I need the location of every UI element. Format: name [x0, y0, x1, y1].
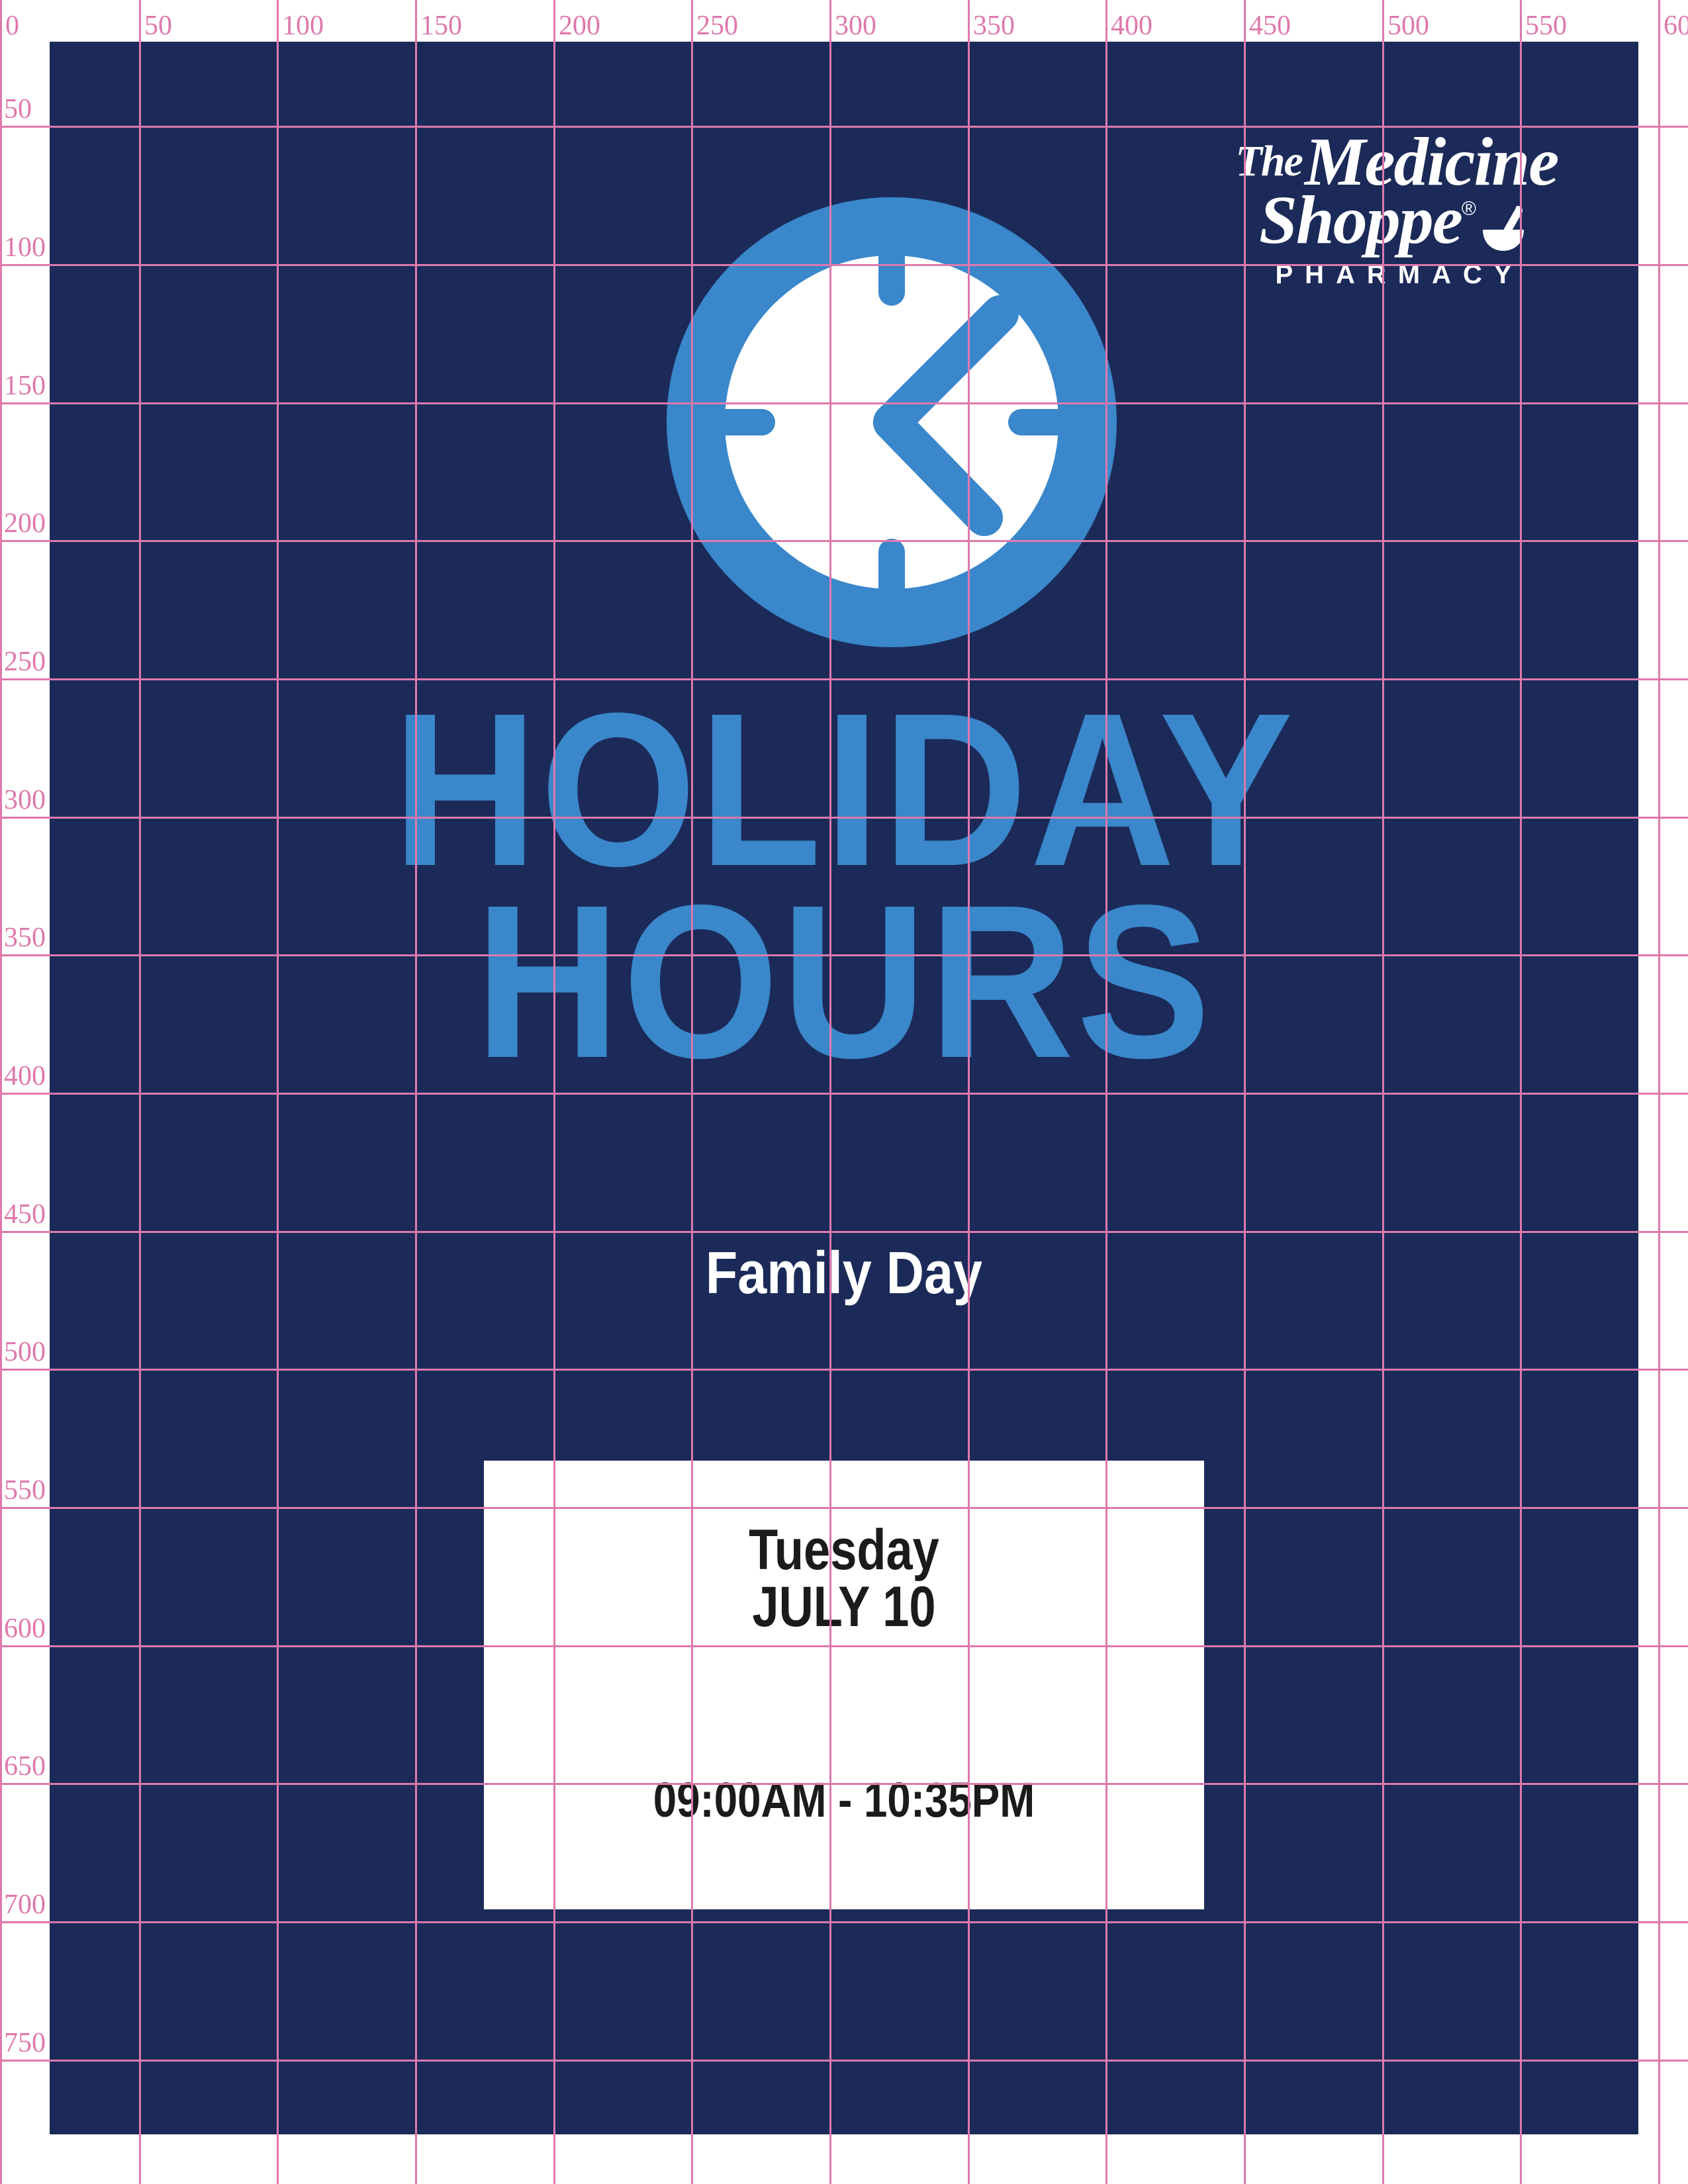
- grid-tick-label-x: 50: [144, 12, 172, 40]
- grid-tick-label-x: 600: [1664, 12, 1688, 40]
- gridline-vertical: [0, 0, 2, 2184]
- opening-hours-label: 09:00AM - 10:35PM: [534, 1772, 1154, 1828]
- grid-tick-label-x: 350: [973, 12, 1015, 40]
- grid-tick-label-y: 650: [4, 1752, 46, 1780]
- clock-icon: [667, 197, 1117, 647]
- hours-info-card: Tuesday JULY 10 09:00AM - 10:35PM: [484, 1461, 1204, 1909]
- logo-pharmacy-text: PHARMACY: [1175, 261, 1612, 288]
- grid-tick-label-x: 200: [559, 12, 600, 40]
- grid-tick-label-y: 350: [4, 924, 46, 952]
- headline-line-1: HOLIDAY: [113, 694, 1575, 886]
- grid-tick-label-y: 150: [4, 372, 46, 400]
- gridline-vertical: [1658, 0, 1660, 2184]
- grid-tick-label-x: 400: [1111, 12, 1152, 40]
- grid-tick-label-y: 400: [4, 1062, 46, 1090]
- grid-tick-label-x: 550: [1525, 12, 1567, 40]
- headline-line-2: HOURS: [113, 886, 1575, 1077]
- holiday-hours-poster: TheMedicine Shoppe® PHARMACY: [50, 42, 1638, 2134]
- grid-tick-label-y: 600: [4, 1615, 46, 1643]
- poster-screenshot: TheMedicine Shoppe® PHARMACY: [0, 0, 1688, 2184]
- grid-tick-label-y: 700: [4, 1891, 46, 1919]
- registered-trademark-icon: ®: [1462, 198, 1476, 220]
- grid-tick-label-x: 500: [1387, 12, 1429, 40]
- grid-tick-label-y: 450: [4, 1201, 46, 1228]
- page-title: HOLIDAY HOURS: [113, 694, 1575, 1078]
- logo-shoppe-text: Shoppe: [1259, 182, 1462, 258]
- grid-tick-label-y: 550: [4, 1477, 46, 1504]
- grid-tick-label-x: 300: [835, 12, 876, 40]
- grid-tick-label-y: 750: [4, 2029, 46, 2057]
- date-label: JULY 10: [541, 1578, 1147, 1635]
- grid-tick-label-y: 100: [4, 234, 46, 261]
- grid-tick-label-y: 250: [4, 648, 46, 676]
- grid-tick-label-x: 250: [696, 12, 738, 40]
- day-of-week-label: Tuesday: [541, 1522, 1147, 1578]
- medicine-shoppe-logo: TheMedicine Shoppe® PHARMACY: [1175, 128, 1612, 288]
- mortar-and-pestle-icon: [1479, 203, 1528, 252]
- grid-tick-label-y: 200: [4, 510, 46, 537]
- grid-tick-label-x: 150: [420, 12, 462, 40]
- grid-tick-label-y: 50: [4, 95, 32, 123]
- date-block: Tuesday JULY 10: [541, 1522, 1147, 1635]
- holiday-name-subtitle: Family Day: [145, 1240, 1543, 1308]
- grid-tick-label-y: 500: [4, 1338, 46, 1366]
- logo-the-text: The: [1236, 137, 1305, 185]
- grid-tick-label-x: 0: [5, 12, 19, 40]
- grid-tick-label-x: 450: [1249, 12, 1291, 40]
- grid-tick-label-x: 100: [282, 12, 324, 40]
- grid-tick-label-y: 300: [4, 786, 46, 814]
